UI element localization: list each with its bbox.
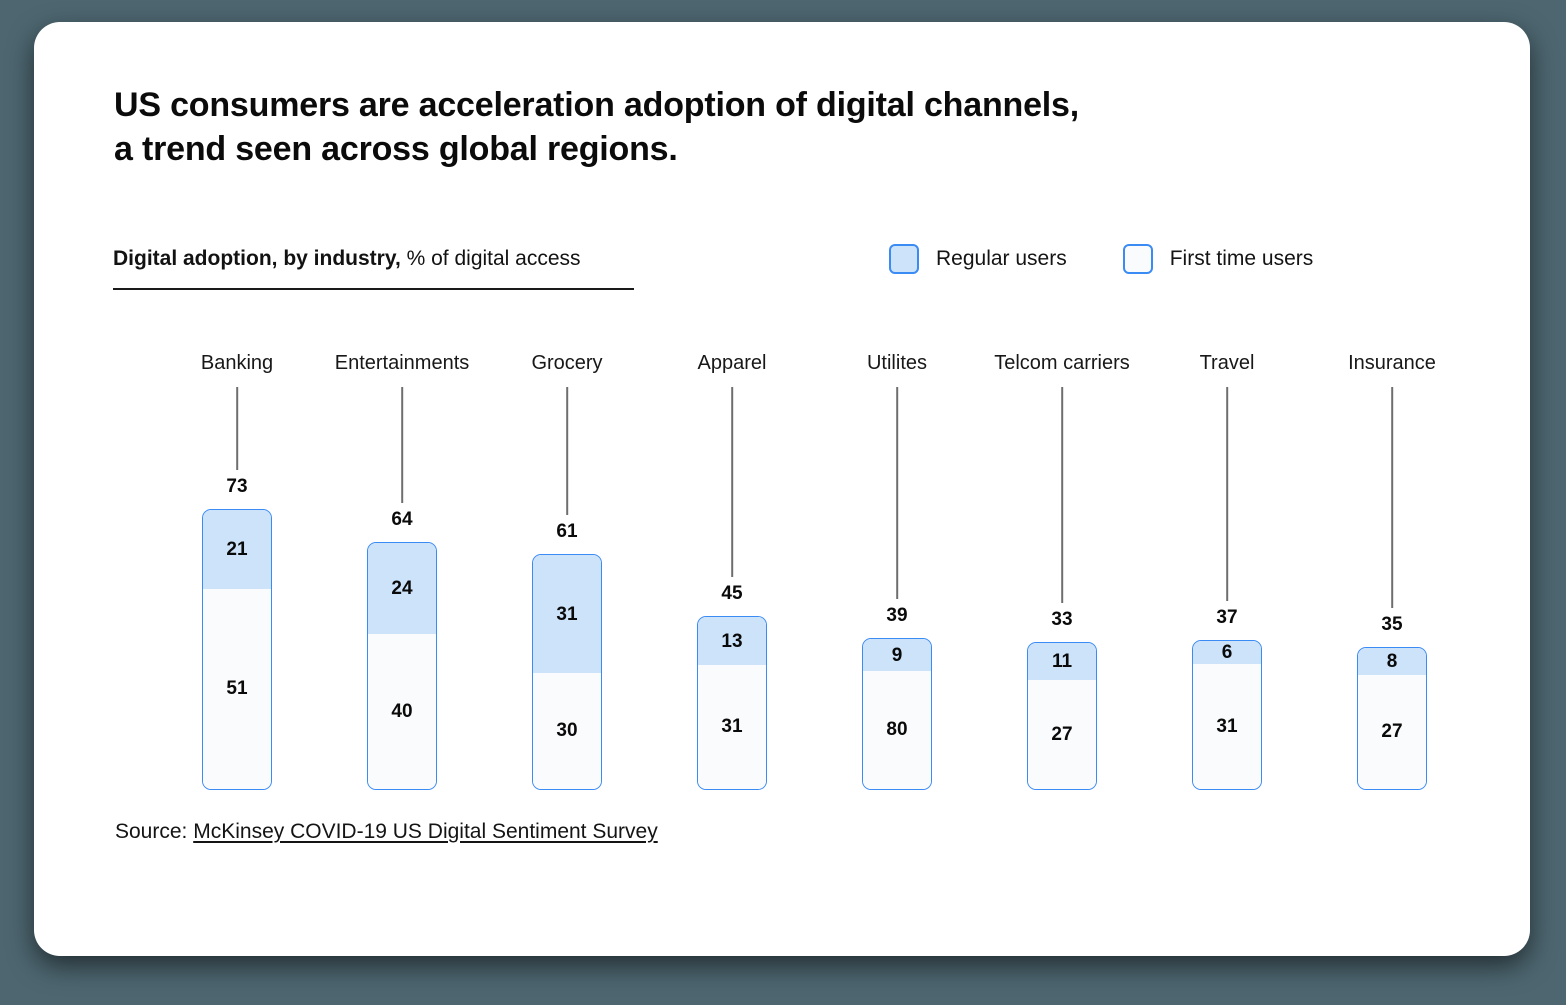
bar-segment-first-time-users[interactable]: 31 bbox=[698, 665, 766, 789]
legend-item-first-time-users[interactable]: First time users bbox=[1123, 244, 1314, 274]
legend-label-first-time-users: First time users bbox=[1170, 247, 1314, 271]
bar-leader-line bbox=[1226, 387, 1228, 601]
bar-segment-regular-users[interactable]: 11 bbox=[1028, 643, 1096, 682]
chart-card: US consumers are acceleration adoption o… bbox=[34, 22, 1530, 956]
stacked-bar[interactable]: 3130 bbox=[532, 554, 602, 790]
subtitle-divider bbox=[113, 288, 634, 290]
bar-total-label: 37 bbox=[1147, 607, 1307, 629]
bar-segment-regular-users[interactable]: 6 bbox=[1193, 641, 1261, 666]
chart-subtitle-block: Digital adoption, by industry, % of digi… bbox=[113, 247, 643, 290]
stacked-bar[interactable]: 980 bbox=[862, 638, 932, 790]
bar-total-label: 45 bbox=[652, 583, 812, 605]
bar-leader-line bbox=[1061, 387, 1063, 603]
legend-swatch-first-time-icon bbox=[1123, 244, 1153, 274]
bar-total-label: 61 bbox=[487, 521, 647, 543]
bar-column: Telcom carriers331127 bbox=[982, 352, 1142, 782]
bar-column: Travel37631 bbox=[1147, 352, 1307, 782]
title-line-2: a trend seen across global regions. bbox=[114, 128, 1314, 172]
bar-segment-regular-users[interactable]: 8 bbox=[1358, 648, 1426, 677]
bar-segment-regular-users[interactable]: 31 bbox=[533, 555, 601, 675]
stacked-bar[interactable]: 1127 bbox=[1027, 642, 1097, 790]
bar-column: Entertainments642440 bbox=[322, 352, 482, 782]
bar-total-label: 35 bbox=[1312, 614, 1472, 636]
bar-segment-first-time-users[interactable]: 80 bbox=[863, 671, 931, 789]
bar-total-label: 39 bbox=[817, 605, 977, 627]
page-root: US consumers are acceleration adoption o… bbox=[0, 0, 1566, 1005]
bar-category-label: Apparel bbox=[652, 352, 812, 375]
bar-column: Insurance35827 bbox=[1312, 352, 1472, 782]
bar-segment-first-time-users[interactable]: 31 bbox=[1193, 664, 1261, 789]
stacked-bar[interactable]: 2151 bbox=[202, 509, 272, 790]
bar-leader-line bbox=[401, 387, 403, 503]
chart-legend: Regular users First time users bbox=[889, 244, 1313, 274]
bar-leader-line bbox=[1391, 387, 1393, 608]
bar-leader-line bbox=[731, 387, 733, 577]
bar-segment-first-time-users[interactable]: 51 bbox=[203, 589, 271, 789]
bar-segment-first-time-users[interactable]: 27 bbox=[1358, 675, 1426, 789]
bar-segment-regular-users[interactable]: 13 bbox=[698, 617, 766, 667]
source-prefix: Source: bbox=[115, 820, 193, 843]
bar-segment-first-time-users[interactable]: 30 bbox=[533, 673, 601, 789]
legend-label-regular-users: Regular users bbox=[936, 247, 1067, 271]
legend-swatch-regular-icon bbox=[889, 244, 919, 274]
bar-segment-regular-users[interactable]: 21 bbox=[203, 510, 271, 591]
bar-segment-regular-users[interactable]: 24 bbox=[368, 543, 436, 636]
legend-item-regular-users[interactable]: Regular users bbox=[889, 244, 1067, 274]
stacked-bar[interactable]: 631 bbox=[1192, 640, 1262, 790]
bar-category-label: Grocery bbox=[487, 352, 647, 375]
bar-total-label: 73 bbox=[157, 476, 317, 498]
stacked-bar[interactable]: 1331 bbox=[697, 616, 767, 790]
bar-total-label: 64 bbox=[322, 509, 482, 531]
bar-column: Utilites39980 bbox=[817, 352, 977, 782]
subtitle-strong: Digital adoption, by industry, bbox=[113, 247, 401, 270]
stacked-bar[interactable]: 827 bbox=[1357, 647, 1427, 790]
bar-column: Apparel451331 bbox=[652, 352, 812, 782]
title-line-1: US consumers are acceleration adoption o… bbox=[114, 84, 1314, 128]
bar-leader-line bbox=[566, 387, 568, 515]
bar-category-label: Utilites bbox=[817, 352, 977, 375]
stacked-bar[interactable]: 2440 bbox=[367, 542, 437, 790]
bar-category-label: Insurance bbox=[1312, 352, 1472, 375]
bar-column: Grocery613130 bbox=[487, 352, 647, 782]
bar-leader-line bbox=[896, 387, 898, 599]
page-title: US consumers are acceleration adoption o… bbox=[114, 84, 1314, 171]
bar-segment-first-time-users[interactable]: 40 bbox=[368, 634, 436, 789]
bar-segment-regular-users[interactable]: 9 bbox=[863, 639, 931, 673]
bar-category-label: Entertainments bbox=[322, 352, 482, 375]
bar-column: Banking732151 bbox=[157, 352, 317, 782]
chart-subtitle: Digital adoption, by industry, % of digi… bbox=[113, 247, 643, 271]
bar-category-label: Telcom carriers bbox=[982, 352, 1142, 375]
bar-segment-first-time-users[interactable]: 27 bbox=[1028, 680, 1096, 789]
bar-total-label: 33 bbox=[982, 609, 1142, 631]
bar-category-label: Banking bbox=[157, 352, 317, 375]
source-link[interactable]: McKinsey COVID-19 US Digital Sentiment S… bbox=[193, 820, 658, 843]
bar-category-label: Travel bbox=[1147, 352, 1307, 375]
bar-chart-plot: Banking732151Entertainments642440Grocery… bbox=[114, 352, 1454, 782]
source-note: Source: McKinsey COVID-19 US Digital Sen… bbox=[115, 820, 658, 844]
bar-leader-line bbox=[236, 387, 238, 470]
subtitle-light: % of digital access bbox=[401, 247, 581, 270]
